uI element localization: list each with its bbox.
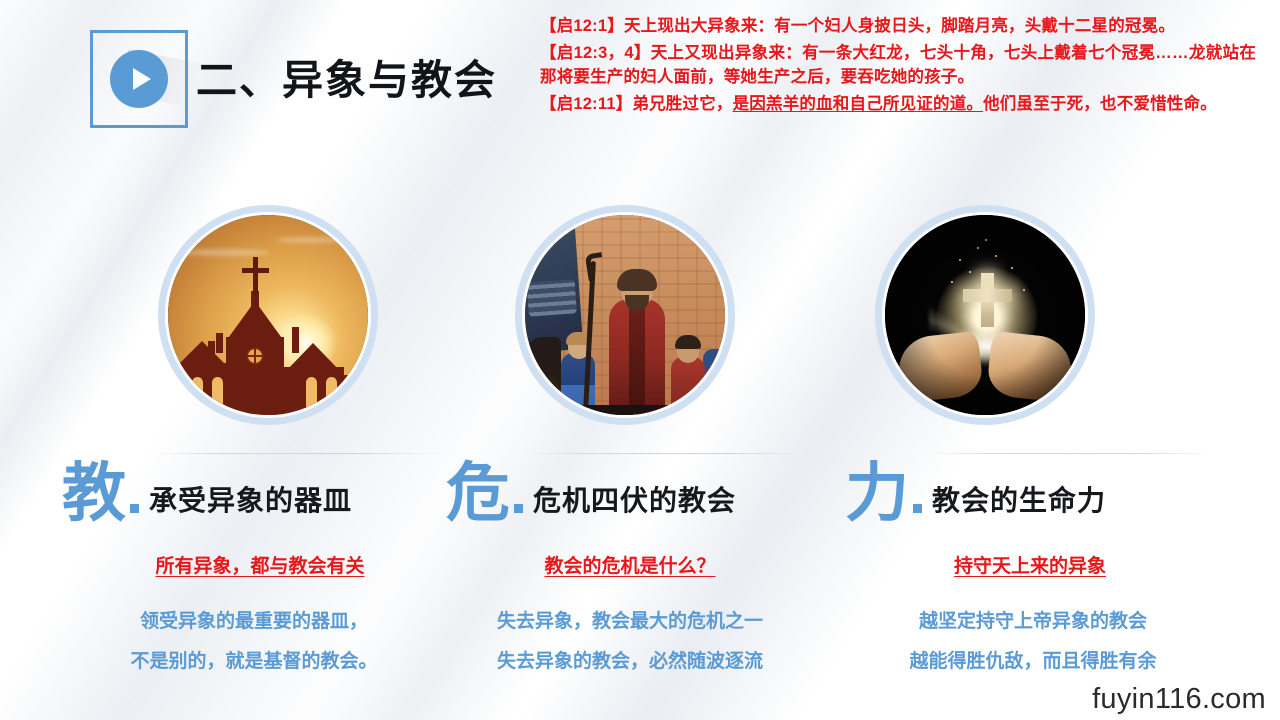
scripture-text-3-underlined: 是因羔羊的血和自己所见证的道。 [733,95,984,113]
column-1-body: 领受异象的最重要的器皿， 不是别的，就是基督的教会。 [46,602,462,682]
content-column-1: 教 承受异象的器皿 所有异象，都与教会有关 领受异象的最重要的器皿， 不是别的，… [62,455,462,682]
scripture-ref-2: 【启12:3，4】 [540,44,651,62]
column-2-body: 失去异象，教会最大的危机之一 失去异象的教会，必然随波逐流 [414,602,846,682]
hands-holding-cross-photo [885,215,1085,415]
content-column-3: 力 教会的生命力 持守天上来的异象 越坚定持守上帝异象的教会 越能得胜仇敌，而且… [845,455,1245,682]
content-column-2: 危 危机四伏的教会 教会的危机是什么？ 失去异象，教会最大的危机之一 失去异象的… [446,455,846,682]
column-1-title: 所有异象，都与教会有关 [58,551,462,578]
column-divider-2 [526,453,811,454]
scripture-text-3b: 他们虽至于死，也不爱惜性命。 [983,95,1217,113]
column-3-heading: 力 教会的生命力 [845,455,1245,525]
column-3-big-char: 力 [845,462,909,525]
column-2-big-char: 危 [446,462,510,525]
presentation-slide: 二、异象与教会 【启12:1】天上现出大异象来：有一个妇人身披日头，脚踏月亮，头… [0,0,1280,720]
scripture-text-1: 天上现出大异象来：有一个妇人身披日头，脚踏月亮，头戴十二星的冠冕。 [624,17,1175,35]
scripture-verse-1: 【启12:1】天上现出大异象来：有一个妇人身披日头，脚踏月亮，头戴十二星的冠冕。 [540,14,1256,38]
column-1-bullet-dot-icon [130,504,139,513]
column-1-heading: 教 承受异象的器皿 [62,455,462,525]
column-2-heading: 危 危机四伏的教会 [446,455,846,525]
scripture-ref-3: 【启12:11】 [540,95,632,113]
column-3-line-2: 越能得胜仇敌，而且得胜有余 [821,642,1245,682]
frame-edge-top [124,30,154,33]
scripture-verse-2: 【启12:3，4】天上又现出异象来：有一条大红龙，七头十角，七头上戴着七个冠冕…… [540,41,1256,89]
scripture-ref-1: 【启12:1】 [540,17,624,35]
column-2-line-1: 失去异象，教会最大的危机之一 [414,602,846,642]
column-2-bullet-dot-icon [514,504,523,513]
cross-icon [253,257,258,295]
column-1-label: 承受异象的器皿 [149,479,352,519]
church-silhouette-icon [168,297,368,415]
column-3-bullet-dot-icon [913,504,922,513]
frame-edge-bottom [124,125,154,128]
church-sunset-photo [168,215,368,415]
scripture-text-3a: 弟兄胜过它， [632,95,732,113]
frame-edge-left [90,64,93,94]
photo-ring-3 [875,205,1095,425]
scripture-verse-3: 【启12:11】弟兄胜过它，是因羔羊的血和自己所见证的道。他们虽至于死，也不爱惜… [540,92,1256,116]
column-3-body: 越坚定持守上帝异象的教会 越能得胜仇敌，而且得胜有余 [821,602,1245,682]
column-2-label: 危机四伏的教会 [533,479,736,519]
scripture-block: 【启12:1】天上现出大异象来：有一个妇人身披日头，脚踏月亮，头戴十二星的冠冕。… [540,14,1256,119]
slide-title: 二、异象与教会 [196,46,497,106]
column-1-line-1: 领受异象的最重要的器皿， [46,602,462,642]
play-icon[interactable] [110,50,168,108]
moses-leading-people-photo [525,215,725,415]
photo-ring-1 [158,205,378,425]
column-divider-1 [152,453,442,454]
frame-edge-right [185,64,188,94]
column-3-label: 教会的生命力 [932,479,1106,519]
column-1-line-2: 不是别的，就是基督的教会。 [46,642,462,682]
site-watermark: fuyin116.com [1092,683,1266,716]
column-3-title: 持守天上来的异象 [815,551,1245,578]
column-3-line-1: 越坚定持守上帝异象的教会 [821,602,1245,642]
photo-ring-2 [515,205,735,425]
column-2-title: 教会的危机是什么？ [414,551,846,578]
column-1-big-char: 教 [62,462,126,525]
play-button-framed-icon[interactable] [90,30,188,128]
column-divider-3 [927,453,1212,454]
column-2-line-2: 失去异象的教会，必然随波逐流 [414,642,846,682]
